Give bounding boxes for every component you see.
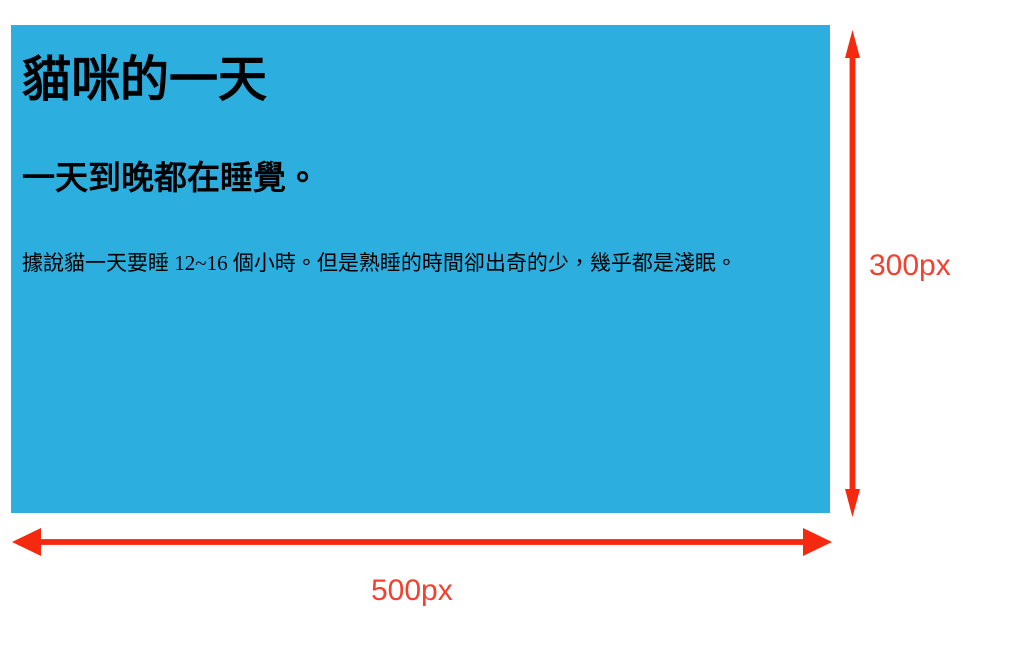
content-box: 貓咪的一天 一天到晚都在睡覺。 據說貓一天要睡 12~16 個小時。但是熟睡的時…: [11, 25, 830, 513]
diagram-canvas: 貓咪的一天 一天到晚都在睡覺。 據說貓一天要睡 12~16 個小時。但是熟睡的時…: [0, 0, 1024, 672]
box-paragraph: 據說貓一天要睡 12~16 個小時。但是熟睡的時間卻出奇的少，幾乎都是淺眠。: [14, 247, 830, 280]
box-subtitle: 一天到晚都在睡覺。: [14, 159, 327, 199]
width-dimension-label: 500px: [371, 574, 453, 608]
double-headed-horizontal-arrow-icon: [12, 528, 832, 556]
double-headed-vertical-arrow-icon: [845, 30, 860, 517]
height-dimension-label: 300px: [869, 249, 951, 283]
box-title: 貓咪的一天: [14, 51, 275, 109]
